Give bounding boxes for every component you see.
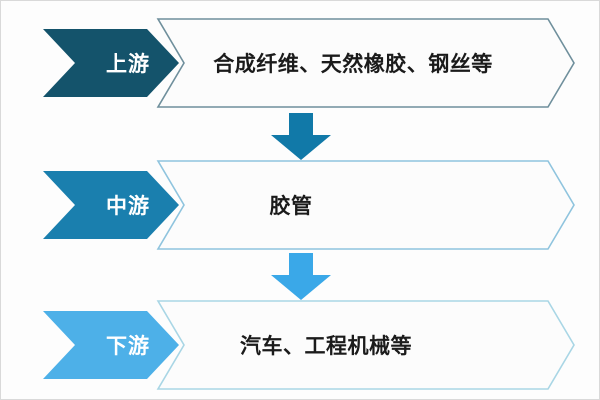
content-chevron-midstream: 胶管 xyxy=(156,159,576,251)
content-text-upstream: 合成纤维、天然橡胶、钢丝等 xyxy=(156,17,576,109)
down-arrow-icon xyxy=(269,253,333,301)
content-chevron-upstream: 合成纤维、天然橡胶、钢丝等 xyxy=(156,17,576,109)
down-arrow-icon xyxy=(269,113,333,161)
stage-label-downstream[interactable]: 下游 xyxy=(43,311,179,379)
content-text-midstream: 胶管 xyxy=(156,159,576,251)
content-chevron-downstream: 汽车、工程机械等 xyxy=(156,299,576,391)
down-arrow-shape xyxy=(271,253,331,300)
stage-label-text-downstream: 下游 xyxy=(43,311,179,379)
stage-label-text-midstream: 中游 xyxy=(43,171,179,239)
connector-midstream-to-downstream xyxy=(269,253,333,301)
diagram-canvas: 合成纤维、天然橡胶、钢丝等 上游 胶管 中游 xyxy=(0,0,600,400)
stage-label-midstream[interactable]: 中游 xyxy=(43,171,179,239)
down-arrow-shape xyxy=(271,113,331,160)
diagram-row-downstream: 汽车、工程机械等 下游 xyxy=(1,299,600,391)
diagram-row-midstream: 胶管 中游 xyxy=(1,159,600,251)
stage-label-upstream[interactable]: 上游 xyxy=(43,29,179,97)
diagram-row-upstream: 合成纤维、天然橡胶、钢丝等 上游 xyxy=(1,17,600,109)
content-text-downstream: 汽车、工程机械等 xyxy=(156,299,576,391)
stage-label-text-upstream: 上游 xyxy=(43,29,179,97)
connector-upstream-to-midstream xyxy=(269,113,333,161)
